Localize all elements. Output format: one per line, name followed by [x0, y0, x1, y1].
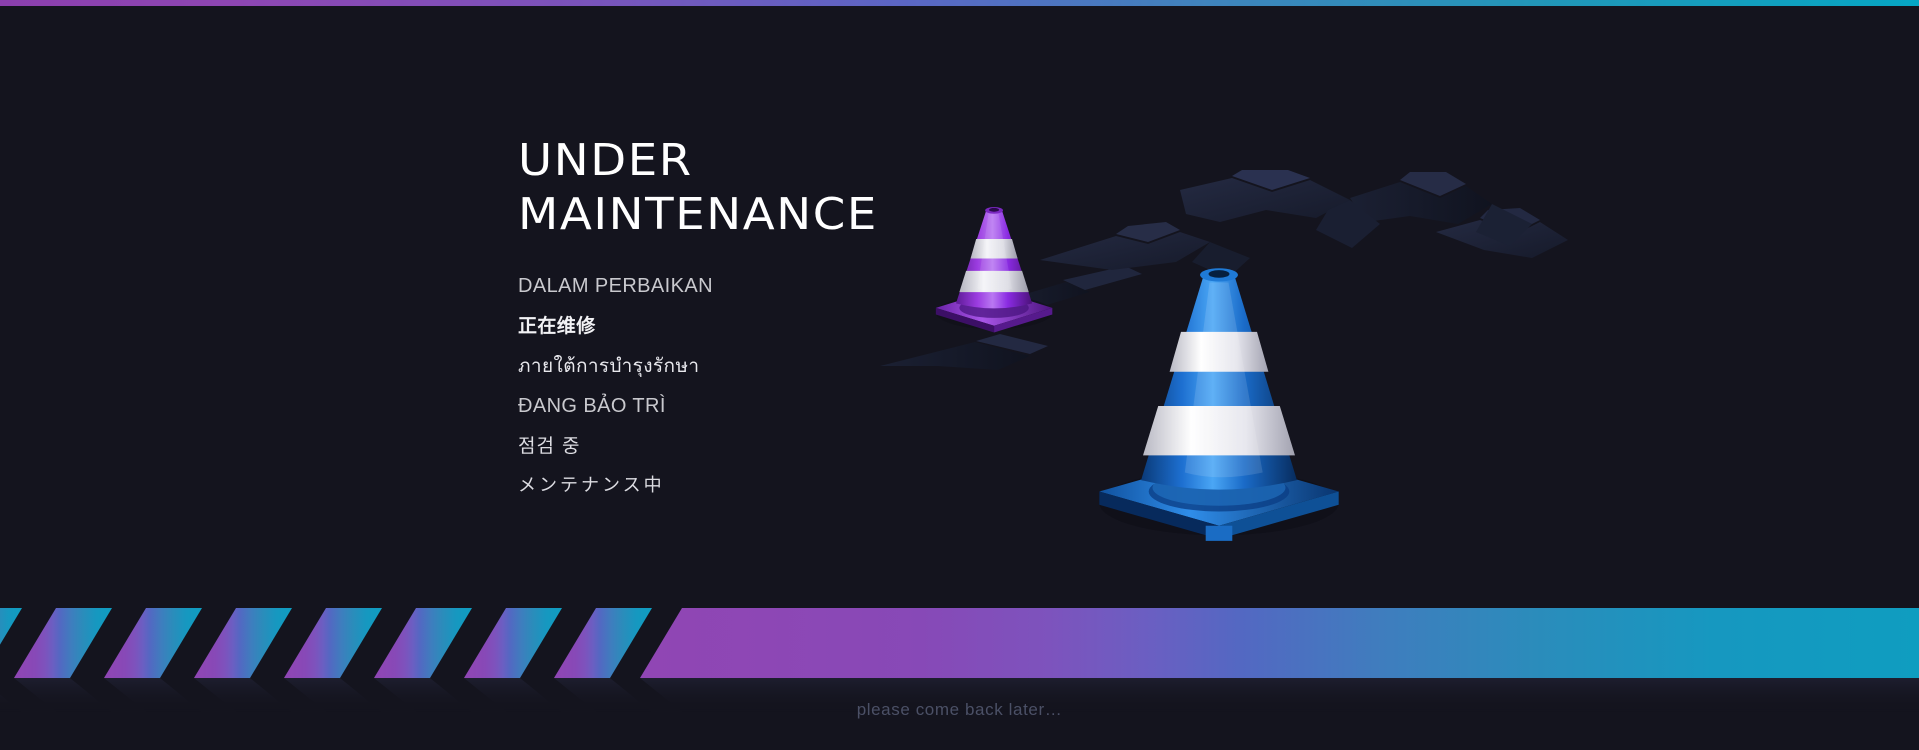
illustration	[880, 170, 1640, 550]
maintenance-page: UNDER MAINTENANCE DALAM PERBAIKAN 正在维修 ภ…	[0, 0, 1919, 750]
purple-cone-icon	[936, 207, 1052, 332]
blue-cone-icon	[1099, 268, 1338, 541]
footer-message: please come back later…	[0, 700, 1919, 720]
top-gradient-bar	[0, 0, 1919, 6]
hazard-stripe-band	[0, 608, 1919, 678]
